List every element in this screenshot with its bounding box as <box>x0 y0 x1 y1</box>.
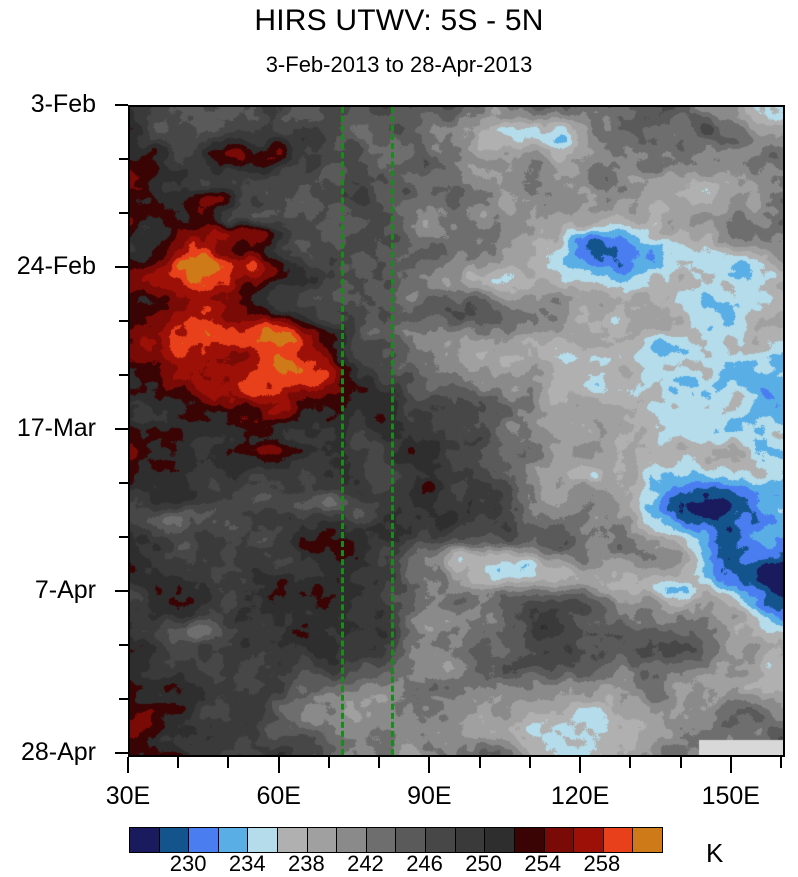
colorbar-tick-label: 254 <box>513 851 573 877</box>
x-tick-minor <box>680 757 682 768</box>
colorbar-swatch <box>456 828 486 852</box>
y-axis-label: 28-Apr <box>21 738 96 767</box>
x-tick-major <box>730 757 732 773</box>
x-tick-major <box>278 757 280 773</box>
colorbar-swatch <box>278 828 308 852</box>
colorbar-swatch <box>485 828 515 852</box>
x-tick-minor <box>328 757 330 768</box>
colorbar-tick-label: 258 <box>572 851 632 877</box>
colorbar-swatch <box>633 828 662 852</box>
colorbar-swatch <box>426 828 456 852</box>
y-axis-label: 3-Feb <box>31 90 96 119</box>
x-tick-minor <box>479 757 481 768</box>
hovmoller-plot-area <box>128 105 785 757</box>
y-tick-major <box>115 590 128 592</box>
x-tick-minor <box>177 757 179 768</box>
x-tick-minor <box>227 757 229 768</box>
y-axis-label: 7-Apr <box>35 576 96 605</box>
vertical-marker-line-82e <box>391 107 394 755</box>
colorbar-swatch <box>337 828 367 852</box>
y-tick-minor <box>119 374 128 376</box>
y-tick-minor <box>119 698 128 700</box>
y-tick-major <box>115 752 128 754</box>
vertical-marker-line-72e <box>341 107 344 755</box>
y-tick-minor <box>119 482 128 484</box>
contour-field <box>130 107 783 755</box>
colorbar-swatch <box>308 828 338 852</box>
figure-root: HIRS UTWV: 5S - 5N 3-Feb-2013 to 28-Apr-… <box>0 0 798 869</box>
colorbar-tick-label: 234 <box>217 851 277 877</box>
y-tick-major <box>115 428 128 430</box>
y-axis-label: 17-Mar <box>17 414 96 443</box>
x-tick-major <box>127 757 129 773</box>
colorbar-swatch <box>367 828 397 852</box>
colorbar-swatch <box>248 828 278 852</box>
x-tick-minor <box>529 757 531 768</box>
x-axis-label: 150E <box>671 782 791 811</box>
y-tick-minor <box>119 320 128 322</box>
colorbar-tick-label: 238 <box>276 851 336 877</box>
x-tick-minor <box>378 757 380 768</box>
y-tick-minor <box>119 536 128 538</box>
y-tick-minor <box>119 158 128 160</box>
colorbar-swatch <box>574 828 604 852</box>
colorbar-swatch <box>545 828 575 852</box>
colorbar-swatch <box>396 828 426 852</box>
x-tick-minor <box>780 757 782 768</box>
y-tick-minor <box>119 644 128 646</box>
colorbar-swatch <box>130 828 160 852</box>
colorbar-tick-label: 242 <box>335 851 395 877</box>
y-axis-label: 24-Feb <box>17 252 96 281</box>
x-tick-major <box>579 757 581 773</box>
colorbar-tick-label: 230 <box>158 851 218 877</box>
x-tick-major <box>428 757 430 773</box>
y-tick-minor <box>119 212 128 214</box>
x-axis-label: 60E <box>219 782 339 811</box>
subtitle: 3-Feb-2013 to 28-Apr-2013 <box>0 52 798 78</box>
page-title: HIRS UTWV: 5S - 5N <box>0 4 798 38</box>
x-axis-label: 120E <box>520 782 640 811</box>
colorbar-swatch <box>189 828 219 852</box>
colorbar <box>129 827 663 853</box>
colorbar-swatch <box>604 828 634 852</box>
colorbar-unit-label: K <box>706 838 723 869</box>
x-axis-label: 90E <box>369 782 489 811</box>
colorbar-swatch <box>160 828 190 852</box>
colorbar-swatch <box>219 828 249 852</box>
colorbar-tick-label: 246 <box>395 851 455 877</box>
y-tick-major <box>115 266 128 268</box>
y-tick-major <box>115 104 128 106</box>
x-tick-minor <box>629 757 631 768</box>
colorbar-swatch <box>515 828 545 852</box>
colorbar-tick-label: 250 <box>454 851 514 877</box>
x-axis-label: 30E <box>68 782 188 811</box>
